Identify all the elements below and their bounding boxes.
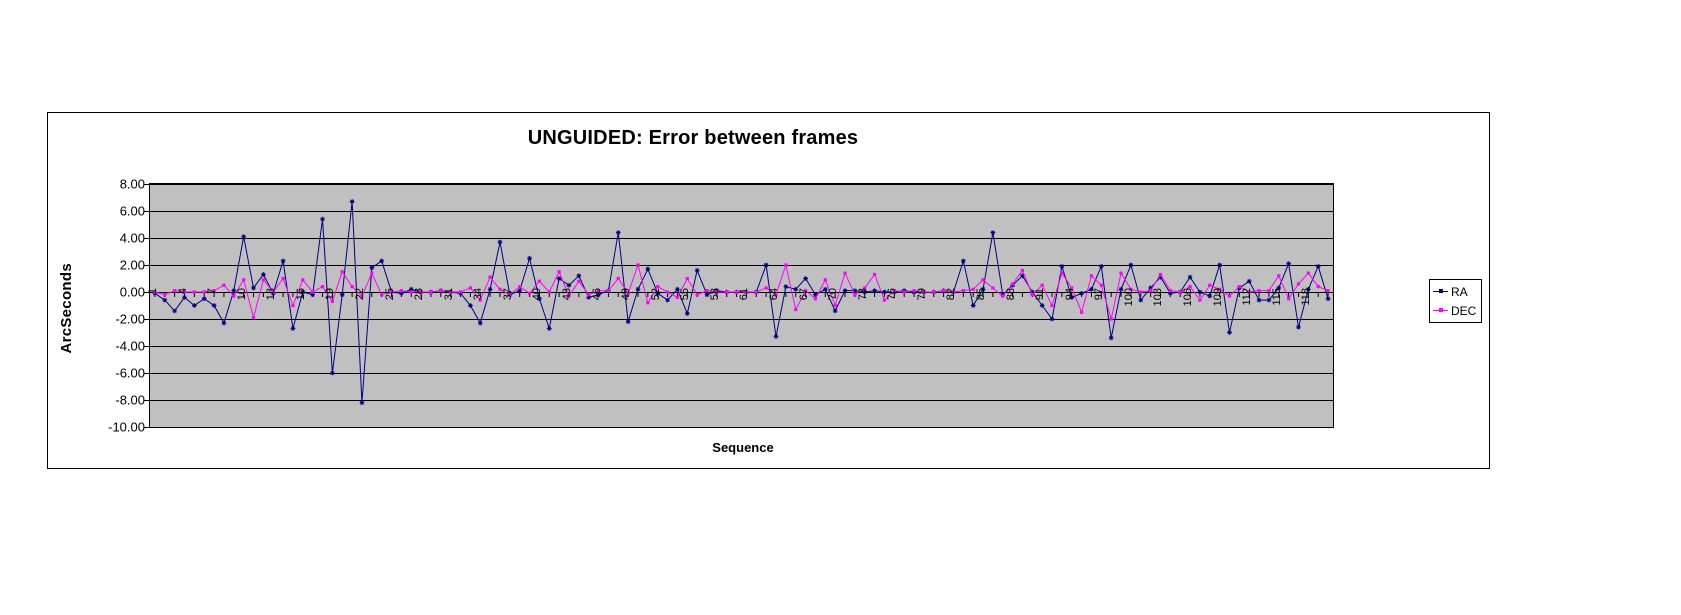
data-point-marker: [1099, 264, 1104, 269]
data-point-marker: [567, 294, 570, 297]
series-dec: [153, 263, 1329, 320]
plot-area: [149, 183, 1334, 428]
data-point-marker: [1188, 285, 1191, 288]
data-point-marker: [972, 288, 975, 291]
data-point-marker: [163, 293, 166, 296]
data-point-marker: [1079, 291, 1084, 296]
data-point-marker: [636, 287, 641, 292]
data-point-marker: [755, 290, 758, 293]
y-axis-tick-label: 4.00: [91, 232, 145, 245]
data-point-marker: [1159, 273, 1162, 276]
data-point-marker: [410, 290, 413, 293]
data-point-marker: [449, 290, 452, 293]
data-point-marker: [587, 293, 590, 296]
data-point-marker: [202, 296, 207, 301]
data-point-marker: [489, 276, 492, 279]
data-point-marker: [153, 290, 156, 293]
data-point-marker: [715, 290, 718, 293]
data-point-marker: [1277, 274, 1280, 277]
data-point-marker: [1041, 284, 1044, 287]
data-point-marker: [281, 259, 286, 264]
data-point-marker: [527, 256, 532, 261]
data-point-marker: [1228, 294, 1231, 297]
x-axis-title: Sequence: [148, 440, 1338, 455]
data-point-marker: [1238, 285, 1241, 288]
data-point-marker: [616, 230, 621, 235]
y-axis-tick-label: -4.00: [91, 340, 145, 353]
data-point-marker: [764, 263, 769, 268]
data-point-marker: [1070, 286, 1073, 289]
data-point-marker: [665, 298, 670, 303]
data-point-marker: [942, 289, 945, 292]
data-point-marker: [498, 288, 501, 291]
data-point-marker: [666, 290, 669, 293]
data-point-marker: [627, 292, 630, 295]
data-point-marker: [1257, 289, 1260, 292]
data-point-marker: [558, 270, 561, 273]
data-point-marker: [272, 290, 275, 293]
data-point-marker: [212, 289, 215, 292]
data-point-marker: [1110, 317, 1113, 320]
data-point-marker: [173, 289, 176, 292]
data-point-marker: [183, 290, 186, 293]
data-point-marker: [1119, 272, 1122, 275]
data-point-marker: [1100, 284, 1103, 287]
data-point-marker: [1129, 288, 1132, 291]
data-point-marker: [429, 290, 432, 293]
data-point-marker: [705, 292, 710, 297]
data-point-marker: [1326, 289, 1329, 292]
data-point-marker: [1179, 290, 1182, 293]
y-axis-tick-label: 2.00: [91, 259, 145, 272]
data-point-marker: [192, 303, 197, 308]
data-point-marker: [685, 311, 690, 316]
data-point-marker: [1297, 282, 1300, 285]
data-point-marker: [1307, 272, 1310, 275]
data-point-marker: [1208, 284, 1211, 287]
data-point-marker: [222, 284, 225, 287]
data-point-marker: [1089, 287, 1094, 292]
data-point-marker: [655, 291, 660, 296]
data-point-marker: [1207, 294, 1212, 299]
data-point-marker: [745, 290, 748, 293]
y-axis-title: ArcSeconds: [58, 263, 84, 354]
data-point-marker: [291, 326, 296, 331]
data-point-marker: [212, 303, 217, 308]
data-point-marker: [903, 290, 906, 293]
data-point-marker: [824, 278, 827, 281]
data-point-marker: [162, 298, 167, 303]
data-point-marker: [340, 292, 345, 297]
data-point-marker: [783, 284, 788, 289]
data-point-marker: [380, 293, 383, 296]
data-point-marker: [1060, 272, 1063, 275]
data-point-marker: [872, 288, 877, 293]
data-point-marker: [863, 286, 866, 289]
y-axis-tick-label: -2.00: [91, 313, 145, 326]
ra-series-color-icon: [1433, 287, 1448, 296]
data-point-marker: [193, 290, 196, 293]
data-point-marker: [873, 273, 876, 276]
data-point-marker: [962, 289, 965, 292]
data-point-marker: [321, 285, 324, 288]
data-point-marker: [439, 289, 442, 292]
data-point-marker: [882, 290, 887, 295]
data-point-marker: [1031, 293, 1034, 296]
data-point-marker: [645, 267, 650, 272]
data-point-marker: [843, 288, 848, 293]
y-axis-tick-labels: 8.006.004.002.000.00-2.00-4.00-6.00-8.00…: [85, 183, 145, 428]
y-axis-tick-label: 8.00: [91, 178, 145, 191]
data-point-marker: [330, 371, 335, 376]
legend-item-dec[interactable]: DEC: [1433, 301, 1478, 320]
data-point-marker: [646, 301, 649, 304]
data-point-marker: [981, 278, 984, 281]
data-point-marker: [1316, 264, 1321, 269]
data-point-marker: [232, 294, 235, 297]
data-point-marker: [242, 278, 245, 281]
gridline: [150, 427, 1333, 428]
data-point-marker: [1021, 269, 1024, 272]
data-point-marker: [617, 277, 620, 280]
data-point-marker: [1218, 288, 1221, 291]
data-point-marker: [991, 286, 994, 289]
data-point-marker: [1080, 311, 1083, 314]
y-axis-tick-label: -6.00: [91, 367, 145, 380]
data-point-marker: [577, 280, 580, 283]
data-point-marker: [222, 321, 227, 326]
data-point-marker: [1149, 289, 1152, 292]
data-point-marker: [301, 278, 304, 281]
data-point-marker: [468, 303, 473, 308]
y-axis-tick-label: 6.00: [91, 205, 145, 218]
data-point-marker: [331, 300, 334, 303]
data-point-marker: [241, 234, 246, 239]
y-axis-tick-label: -10.00: [91, 421, 145, 434]
data-point-marker: [370, 272, 373, 275]
x-axis-tick-marks: [155, 292, 1328, 297]
y-axis-tick-label: 0.00: [91, 286, 145, 299]
data-point-marker: [459, 290, 462, 293]
data-point-marker: [814, 297, 817, 300]
data-point-marker: [1138, 298, 1143, 303]
data-point-marker: [1317, 285, 1320, 288]
data-point-marker: [1267, 298, 1272, 303]
data-point-marker: [350, 285, 353, 288]
data-point-marker: [971, 303, 976, 308]
data-point-marker: [508, 293, 511, 296]
data-point-marker: [636, 263, 639, 266]
data-point-marker: [1119, 287, 1124, 292]
data-point-marker: [182, 295, 187, 300]
data-point-marker: [360, 400, 365, 405]
data-point-marker: [420, 290, 423, 293]
data-point-marker: [774, 293, 777, 296]
data-point-marker: [607, 289, 610, 292]
data-point-marker: [725, 290, 728, 293]
data-point-marker: [1227, 330, 1232, 335]
data-point-marker: [676, 296, 679, 299]
chart-title: UNGUIDED: Error between frames: [48, 127, 1338, 150]
data-point-marker: [1248, 290, 1251, 293]
data-point-marker: [350, 199, 355, 204]
data-point-marker: [537, 296, 542, 301]
data-point-marker: [952, 290, 955, 293]
data-point-marker: [400, 289, 403, 292]
data-point-marker: [990, 230, 995, 235]
chart-frame: UNGUIDED: Error between frames ArcSecond…: [47, 112, 1490, 469]
data-point-marker: [705, 289, 708, 292]
data-point-marker: [498, 240, 503, 245]
data-point-marker: [981, 287, 986, 292]
data-point-marker: [804, 289, 807, 292]
data-point-marker: [320, 217, 325, 222]
data-point-marker: [774, 334, 779, 339]
data-point-marker: [765, 286, 768, 289]
data-point-marker: [1011, 282, 1014, 285]
data-point-marker: [1326, 296, 1331, 301]
data-point-marker: [281, 277, 284, 280]
series-ra: [153, 199, 1331, 405]
data-point-marker: [735, 290, 738, 293]
y-axis-tick-label: -8.00: [91, 394, 145, 407]
legend-label-dec: DEC: [1451, 305, 1476, 317]
data-point-marker: [823, 287, 828, 292]
dec-series-color-icon: [1433, 306, 1448, 315]
legend-item-ra[interactable]: RA: [1433, 282, 1478, 301]
data-point-marker: [1267, 289, 1270, 292]
data-point-marker: [932, 290, 935, 293]
data-point-marker: [1059, 264, 1064, 269]
data-point-marker: [1217, 263, 1222, 268]
data-point-marker: [695, 268, 700, 273]
data-point-marker: [479, 299, 482, 302]
plot-series-svg: [150, 184, 1333, 427]
data-point-marker: [548, 290, 551, 293]
data-point-marker: [784, 263, 787, 266]
data-point-marker: [300, 290, 305, 295]
data-point-marker: [1296, 325, 1301, 330]
data-point-marker: [547, 326, 552, 331]
data-point-marker: [390, 290, 393, 293]
data-point-marker: [862, 290, 867, 295]
data-point-marker: [478, 321, 483, 326]
chart-legend: RA DEC: [1429, 279, 1482, 323]
data-point-marker: [1139, 290, 1142, 293]
data-point-marker: [488, 287, 493, 292]
data-point-marker: [341, 270, 344, 273]
data-point-marker: [893, 289, 896, 292]
data-point-marker: [696, 293, 699, 296]
data-point-marker: [794, 308, 797, 311]
data-point-marker: [1198, 299, 1201, 302]
data-point-marker: [291, 304, 294, 307]
data-point-marker: [518, 285, 521, 288]
data-point-marker: [360, 294, 363, 297]
data-point-marker: [686, 277, 689, 280]
data-point-marker: [1129, 263, 1134, 268]
data-point-marker: [596, 292, 601, 297]
data-point-marker: [1090, 274, 1093, 277]
data-point-marker: [1109, 336, 1114, 341]
data-point-marker: [1286, 261, 1291, 266]
data-point-marker: [262, 278, 265, 281]
data-point-marker: [853, 293, 856, 296]
data-point-marker: [311, 290, 314, 293]
data-point-marker: [1040, 303, 1045, 308]
data-point-marker: [626, 319, 631, 324]
data-point-marker: [834, 304, 837, 307]
data-point-marker: [922, 290, 925, 293]
data-point-marker: [803, 276, 808, 281]
data-point-marker: [1287, 297, 1290, 300]
data-point-marker: [833, 309, 838, 314]
data-point-marker: [1069, 295, 1074, 300]
data-point-marker: [1001, 294, 1004, 297]
data-point-marker: [203, 290, 206, 293]
data-point-marker: [656, 285, 659, 288]
data-point-marker: [961, 259, 966, 264]
data-point-marker: [912, 289, 915, 292]
data-point-marker: [252, 316, 255, 319]
data-point-marker: [1306, 287, 1311, 292]
data-point-marker: [231, 288, 236, 293]
data-point-marker: [469, 286, 472, 289]
legend-label-ra: RA: [1451, 286, 1468, 298]
data-point-marker: [528, 292, 531, 295]
data-point-marker: [538, 280, 541, 283]
data-point-marker: [1050, 304, 1053, 307]
data-point-marker: [883, 299, 886, 302]
data-point-marker: [597, 289, 600, 292]
data-point-marker: [1169, 289, 1172, 292]
data-point-marker: [1257, 298, 1262, 303]
data-point-marker: [843, 272, 846, 275]
data-point-marker: [517, 288, 522, 293]
